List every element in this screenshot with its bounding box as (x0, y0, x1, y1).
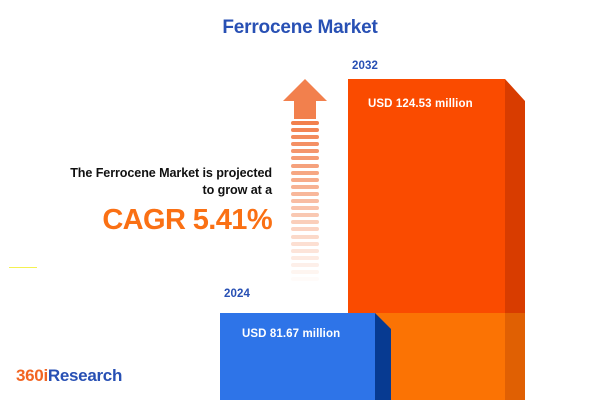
arrow-stripe (291, 121, 319, 125)
arrow-stripe (291, 171, 319, 175)
arrow-stripe (291, 291, 319, 295)
arrow-stripe (291, 206, 319, 210)
infographic-canvas: Ferrocene Market 2032 USD 124.53 million… (0, 0, 600, 400)
bar-value-2032: USD 124.53 million (368, 98, 473, 110)
arrow-stripe (291, 270, 319, 274)
arrow-stripe (291, 235, 319, 239)
arrow-stripe (291, 242, 319, 246)
brand-logo-360i: 360i (16, 366, 48, 385)
arrow-stripe (291, 249, 319, 253)
bar-2024 (220, 313, 375, 400)
brand-logo-research: Research (48, 366, 122, 385)
arrow-stripe (291, 178, 319, 182)
arrow-stripe (291, 227, 319, 231)
arrow-stripe (291, 192, 319, 196)
arrow-stripe (291, 199, 319, 203)
arrow-stripe (291, 256, 319, 260)
bar-2032-side-face (505, 79, 525, 313)
arrow-stripe (291, 149, 319, 153)
year-label-2032: 2032 (352, 60, 378, 72)
cagr-value: CAGR 5.41% (18, 206, 272, 235)
bar-2032-front-face (348, 79, 505, 313)
arrow-stripe (291, 128, 319, 132)
cagr-statement-line2: to grow at a (203, 183, 272, 197)
arrow-stripe (291, 213, 319, 217)
cagr-statement-text: The Ferrocene Market is projected to gro… (18, 165, 272, 200)
cagr-statement: The Ferrocene Market is projected to gro… (18, 165, 272, 235)
bar-2032-side-base-face (505, 313, 525, 400)
arrow-stripe (291, 277, 319, 281)
arrow-stripe (291, 164, 319, 168)
arrow-stripe (291, 142, 319, 146)
arrow-stripe (291, 135, 319, 139)
bar-2024-front-face (220, 313, 375, 400)
up-arrow-head-icon (282, 78, 328, 120)
arrow-guide-line (9, 267, 37, 268)
bar-value-2024: USD 81.67 million (242, 328, 340, 340)
brand-logo[interactable]: 360iResearch (16, 366, 122, 386)
arrow-stripe (291, 185, 319, 189)
cagr-statement-line1: The Ferrocene Market is projected (70, 166, 272, 180)
up-arrow-stripes (291, 121, 319, 293)
arrow-stripe (291, 284, 319, 288)
arrow-stripe (291, 220, 319, 224)
up-arrow-icon (282, 78, 328, 293)
year-label-2024: 2024 (224, 288, 250, 300)
arrow-stripe (291, 263, 319, 267)
arrow-stripe (291, 156, 319, 160)
